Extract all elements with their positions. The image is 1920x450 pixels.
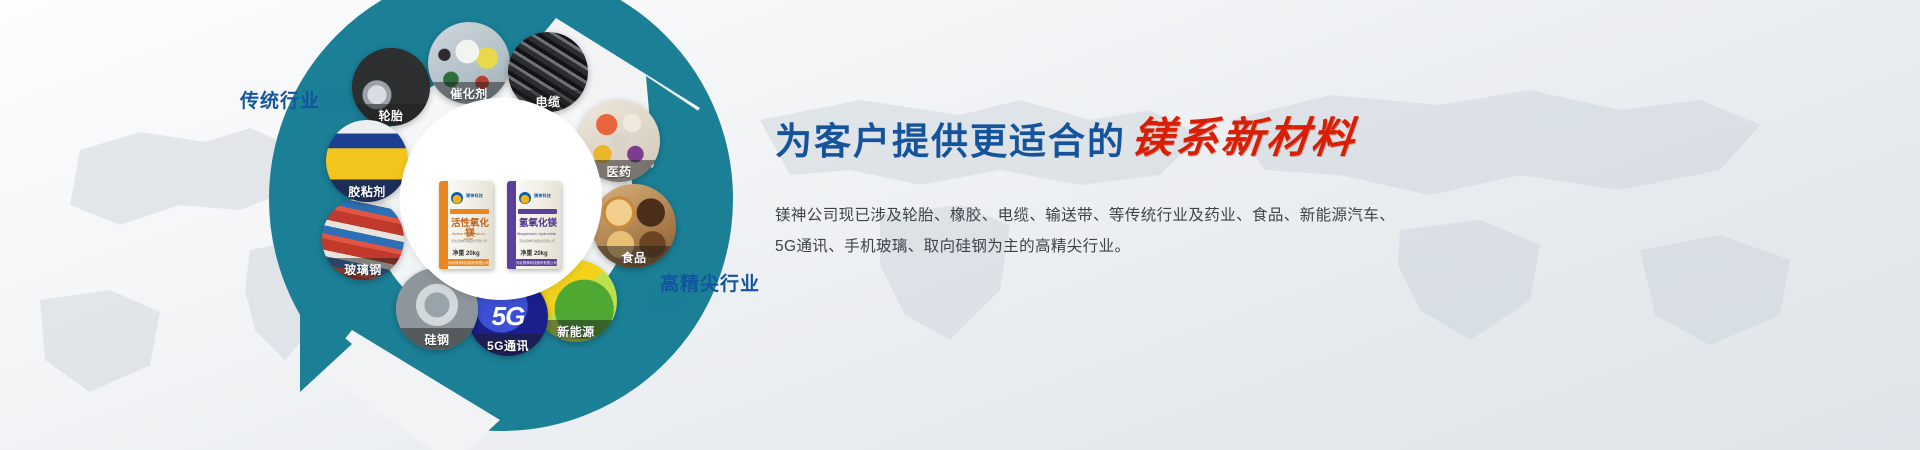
bubble-cable[interactable]: 电缆 (508, 32, 588, 112)
bag-product-name-en: Magnesium hydroxide (515, 231, 558, 236)
bag-brand-name: 镁神科技 (466, 193, 483, 199)
headline-main-text: 为客户提供更适合的 (775, 111, 1126, 165)
center-product-disc: 镁神科技 活性氧化镁 Active Magnesium oxide 河北镁神科技… (403, 101, 599, 297)
bag-brand-logo: 镁神科技 (518, 190, 557, 206)
bag-brand-logo: 镁神科技 (450, 190, 489, 206)
bubble-food[interactable]: 食品 (592, 184, 676, 268)
bag-footer-company: 河北镁神科技股份有限公司 (516, 259, 557, 266)
bag-product-name: 氢氧化镁 (518, 219, 558, 229)
headline-accent-text: 镁系新材料 (1129, 104, 1360, 165)
bubble-tire[interactable]: 轮胎 (352, 48, 430, 126)
bag-footer-company: 河北镁神科技股份有限公司 (448, 259, 489, 266)
bag-net-weight: 净重 20kg (439, 248, 493, 257)
industry-wheel-graphic: 传统行业 高精尖行业 轮胎 催化剂 电缆 医药 食品 新能源 5G 5G通讯 (0, 0, 860, 450)
bag-band (518, 209, 557, 214)
bag-blurb: 河北镁神科技股份有限公司 (517, 239, 557, 244)
bag-band (450, 209, 489, 214)
bag-net-weight: 净重 20kg (507, 248, 561, 257)
bubble-caption: 5G通讯 (468, 334, 548, 356)
bubble-caption: 硅钢 (396, 328, 478, 350)
product-bag-active-magnesium-oxide[interactable]: 镁神科技 活性氧化镁 Active Magnesium oxide 河北镁神科技… (439, 181, 493, 269)
headline: 为客户提供更适合的 镁系新材料 (775, 104, 1475, 165)
brand-mark-icon (451, 192, 463, 204)
label-advanced-industry: 高精尖行业 (660, 269, 760, 296)
product-bag-magnesium-hydroxide[interactable]: 镁神科技 氢氧化镁 Magnesium hydroxide 河北镁神科技股份有限… (507, 181, 561, 269)
description-paragraph: 镁神公司现已涉及轮胎、橡胶、电缆、输送带、等传统行业及药业、食品、新能源汽车、5… (775, 200, 1400, 262)
marketing-copy-block: 为客户提供更适合的 镁系新材料 镁神公司现已涉及轮胎、橡胶、电缆、输送带、等传统… (775, 104, 1475, 262)
bag-blurb: 河北镁神科技股份有限公司 (449, 239, 489, 244)
bubble-adhesive[interactable]: 胶粘剂 (326, 120, 408, 202)
bubble-catalyst[interactable]: 催化剂 (428, 22, 510, 104)
bubble-caption: 胶粘剂 (326, 180, 408, 202)
bubble-frp[interactable]: 玻璃钢 (322, 198, 404, 280)
brand-mark-icon (519, 192, 531, 204)
bag-brand-name: 镁神科技 (534, 193, 551, 199)
label-traditional-industry: 传统行业 (240, 86, 320, 113)
bubble-caption: 玻璃钢 (322, 258, 404, 280)
